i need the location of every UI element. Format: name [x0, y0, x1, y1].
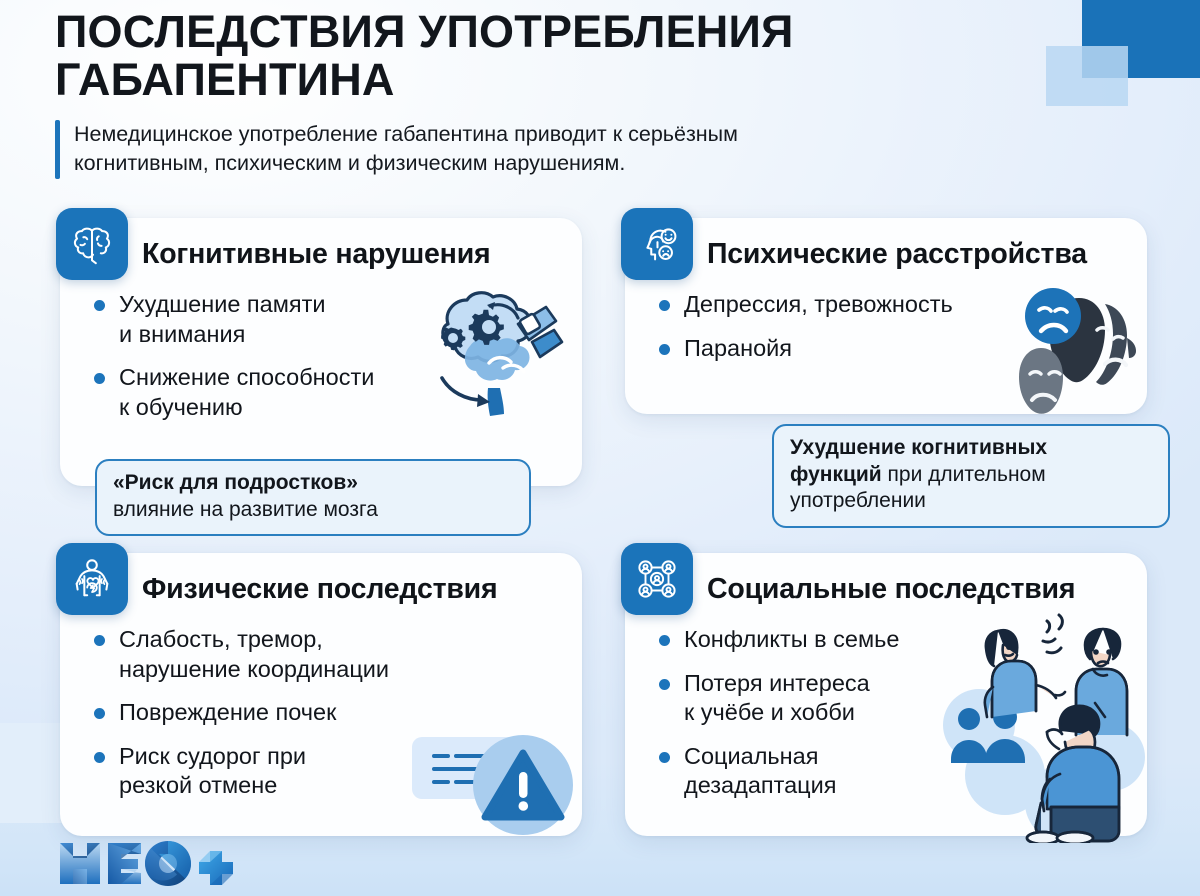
callout-long-term-line-1: Ухудшение когнитивных: [790, 435, 1152, 462]
bullet-dot: [94, 635, 105, 646]
neo-plus-logo: [58, 840, 233, 886]
bullet-list-mental: Депрессия, тревожность Паранойя: [659, 290, 997, 377]
bullet-text: Снижение способностик обучению: [119, 363, 374, 422]
list-item: Депрессия, тревожность: [659, 290, 997, 320]
list-item: Социальнаядезадаптация: [659, 742, 987, 801]
decorative-square-light: [1046, 46, 1128, 106]
bullet-text: Депрессия, тревожность: [684, 290, 953, 320]
theatre-masks-illustration: [1005, 286, 1145, 414]
bullet-dot: [94, 752, 105, 763]
bullet-dot: [659, 679, 670, 690]
bullet-dot: [659, 344, 670, 355]
subtitle-line-2: когнитивным, психическим и физическим на…: [74, 149, 738, 178]
card-title-physical: Физические последствия: [142, 563, 497, 615]
bullet-text: Риск судорог прирезкой отмене: [119, 742, 306, 801]
bullet-dot: [94, 373, 105, 384]
subtitle: Немедицинское употребление габапентина п…: [74, 120, 738, 179]
list-item: Конфликты в семье: [659, 625, 987, 655]
list-item: Потеря интересак учёбе и хобби: [659, 669, 987, 728]
bullet-dot: [659, 752, 670, 763]
subtitle-block: Немедицинское употребление габапентина п…: [55, 120, 1025, 179]
bullet-text: Ухудшение памятии внимания: [119, 290, 326, 349]
card-physical: Физические последствия Слабость, тремор,…: [60, 553, 582, 836]
bullet-text: Слабость, тремор,нарушение координации: [119, 625, 389, 684]
card-mental: Психические расстройства Депрессия, трев…: [625, 218, 1147, 414]
page-title-line-2: ГАБАПЕНТИНА: [55, 56, 1035, 104]
card-title-mental: Психические расстройства: [707, 228, 1087, 280]
callout-teen-risk-text: влияние на развитие мозга: [113, 497, 513, 524]
callout-long-term: Ухудшение когнитивных функций при длител…: [772, 424, 1170, 528]
list-item: Повреждение почек: [94, 698, 442, 728]
subtitle-accent-bar: [55, 120, 60, 179]
body-organs-icon: [56, 543, 128, 615]
bullet-dot: [659, 300, 670, 311]
card-title-cognitive: Когнитивные нарушения: [142, 228, 490, 280]
page-title-line-1: ПОСЛЕДСТВИЯ УПОТРЕБЛЕНИЯ: [55, 8, 1035, 56]
list-item: Паранойя: [659, 334, 997, 364]
card-social: Социальные последствия Конфликты в семье…: [625, 553, 1147, 836]
list-item: Снижение способностик обучению: [94, 363, 432, 422]
bullet-text: Потеря интересак учёбе и хобби: [684, 669, 870, 728]
bullet-text: Социальнаядезадаптация: [684, 742, 837, 801]
callout-long-term-line-2: функций при длительном: [790, 462, 1152, 489]
callout-teen-risk: «Риск для подростков» влияние на развити…: [95, 459, 531, 536]
bullet-list-social: Конфликты в семье Потеря интересак учёбе…: [659, 625, 987, 815]
infographic-page: ПОСЛЕДСТВИЯ УПОТРЕБЛЕНИЯ ГАБАПЕНТИНА Нем…: [0, 0, 1200, 896]
page-title: ПОСЛЕДСТВИЯ УПОТРЕБЛЕНИЯ ГАБАПЕНТИНА: [55, 8, 1035, 103]
head-emotions-icon: [621, 208, 693, 280]
list-item: Слабость, тремор,нарушение координации: [94, 625, 442, 684]
bullet-list-cognitive: Ухудшение памятии внимания Снижение спос…: [94, 290, 432, 436]
brain-icon: [56, 208, 128, 280]
bullet-text: Паранойя: [684, 334, 792, 364]
decorative-square-bottom-left-a: [0, 723, 62, 823]
subtitle-line-1: Немедицинское употребление габапентина п…: [74, 120, 738, 149]
bullet-dot: [94, 300, 105, 311]
brain-gears-illustration: [414, 280, 586, 430]
bullet-text: Конфликты в семье: [684, 625, 899, 655]
list-item: Риск судорог прирезкой отмене: [94, 742, 442, 801]
people-network-icon: [621, 543, 693, 615]
callout-teen-risk-bold: «Риск для подростков»: [113, 470, 513, 497]
bullet-list-physical: Слабость, тремор,нарушение координации П…: [94, 625, 442, 815]
list-item: Ухудшение памятии внимания: [94, 290, 432, 349]
bullet-dot: [94, 708, 105, 719]
bullet-text: Повреждение почек: [119, 698, 336, 728]
card-cognitive: Когнитивные нарушения Ухудшение памятии …: [60, 218, 582, 486]
callout-long-term-line-3: употреблении: [790, 488, 1152, 515]
card-title-social: Социальные последствия: [707, 563, 1075, 615]
bullet-dot: [659, 635, 670, 646]
